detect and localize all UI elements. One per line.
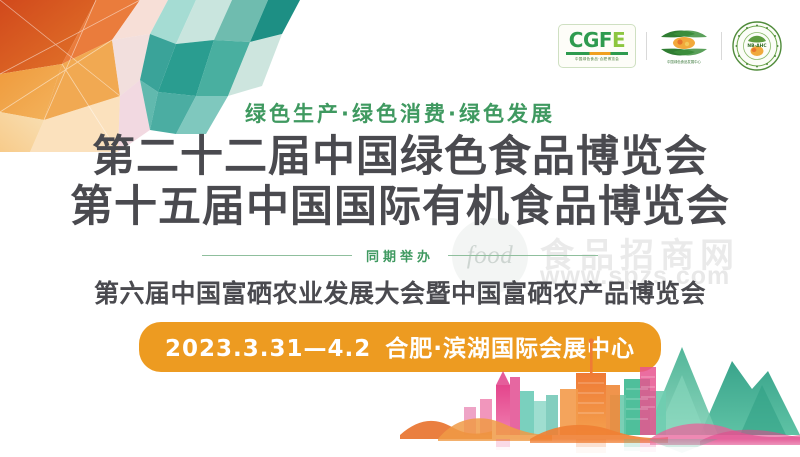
main-title-line-1: 第二十二届中国绿色食品博览会 — [0, 136, 800, 179]
poster-canvas: food 食品招商网 www.spzs.com CGFE 中国绿色食品·合肥博览… — [0, 0, 800, 457]
divider-line-left — [202, 255, 352, 257]
cgfe-logo-subtitle: 中国绿色食品·合肥博览会 — [575, 57, 619, 62]
divider-label: 同期举办 — [366, 246, 434, 265]
organic-seal-icon: NB-AHC — [732, 21, 782, 71]
main-title-line-2: 第十五届中国国际有机食品博览会 — [0, 186, 800, 229]
cgfe-logo-bar — [566, 52, 628, 55]
logo-divider-1 — [646, 32, 647, 60]
secondary-title: 第六届中国富硒农业发展大会暨中国富硒农产品博览会 — [0, 274, 800, 310]
concurrent-event-divider: 同期举办 — [0, 246, 800, 265]
cgfe-letters-main: CGF — [569, 28, 612, 52]
cgfe-logo-letters: CGFE — [569, 30, 625, 50]
date-venue-badge: 2023.3.31—4.2合肥·滨湖国际会展中心 — [139, 322, 661, 372]
leaf-emblem-icon — [659, 28, 709, 58]
divider-line-right — [448, 255, 598, 257]
event-venue: 合肥·滨湖国际会展中心 — [385, 336, 635, 362]
cgfe-letters-accent: E — [612, 28, 625, 52]
logo-divider-2 — [721, 32, 722, 60]
seal-abbr-text: NB-AHC — [747, 43, 766, 49]
leaf-logo-subtitle: 中国绿色食品发展中心 — [667, 59, 701, 64]
event-date: 2023.3.31—4.2 — [165, 336, 371, 362]
logo-row: CGFE 中国绿色食品·合肥博览会 中国绿色食品发展中心 — [558, 18, 782, 74]
green-food-center-logo: 中国绿色食品发展中心 — [657, 22, 711, 70]
tagline: 绿色生产·绿色消费·绿色发展 — [0, 98, 800, 128]
cgfe-logo: CGFE 中国绿色食品·合肥博览会 — [558, 24, 636, 68]
organic-seal-logo: NB-AHC — [732, 21, 782, 71]
